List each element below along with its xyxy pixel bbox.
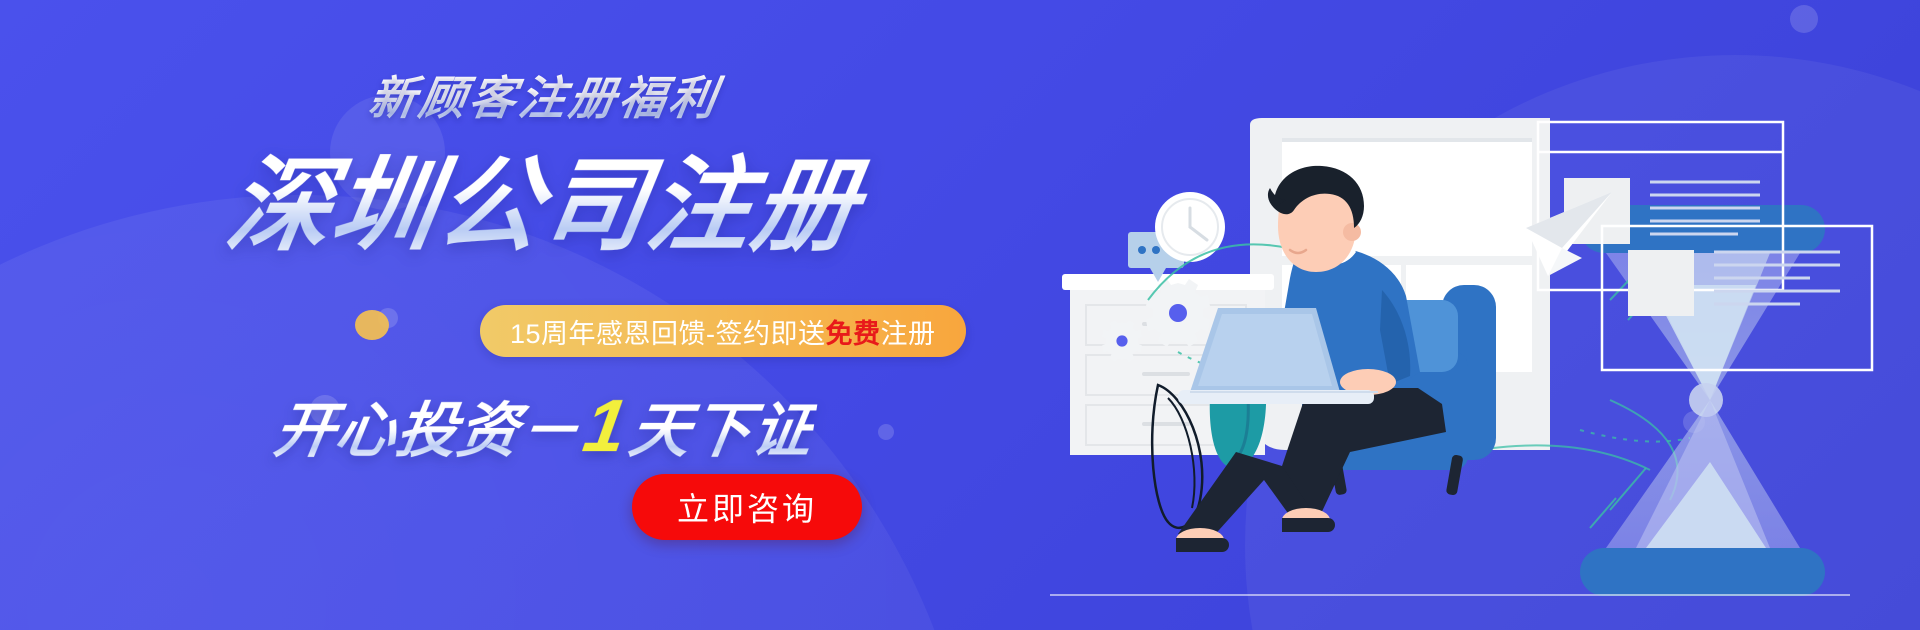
banner-illustration <box>1050 0 1920 630</box>
clock-icon <box>1155 192 1225 262</box>
banner-subline: 开心投资－1天下证 <box>0 382 1097 469</box>
subline-before: 开心投资－ <box>270 397 586 464</box>
promo-badge: 15周年感恩回馈-签约即送免费注册 <box>480 305 966 357</box>
banner-headline: 深圳公司注册 <box>0 122 1102 271</box>
subline-after: 天下证 <box>625 397 819 464</box>
consult-now-button[interactable]: 立即咨询 <box>632 474 862 540</box>
promo-badge-prefix: 15周年感恩回馈-签约即送 <box>510 312 826 351</box>
banner-eyebrow: 新顾客注册福利 <box>0 62 1095 128</box>
banner-text-column: 新顾客注册福利 深圳公司注册 15周年感恩回馈-签约即送免费注册 开心投资－1天… <box>0 0 1090 630</box>
promo-banner: 新顾客注册福利 深圳公司注册 15周年感恩回馈-签约即送免费注册 开心投资－1天… <box>0 0 1920 630</box>
promo-badge-suffix: 注册 <box>881 312 936 351</box>
promo-badge-highlight: 免费 <box>826 312 881 351</box>
consult-now-button-label: 立即咨询 <box>677 484 817 530</box>
